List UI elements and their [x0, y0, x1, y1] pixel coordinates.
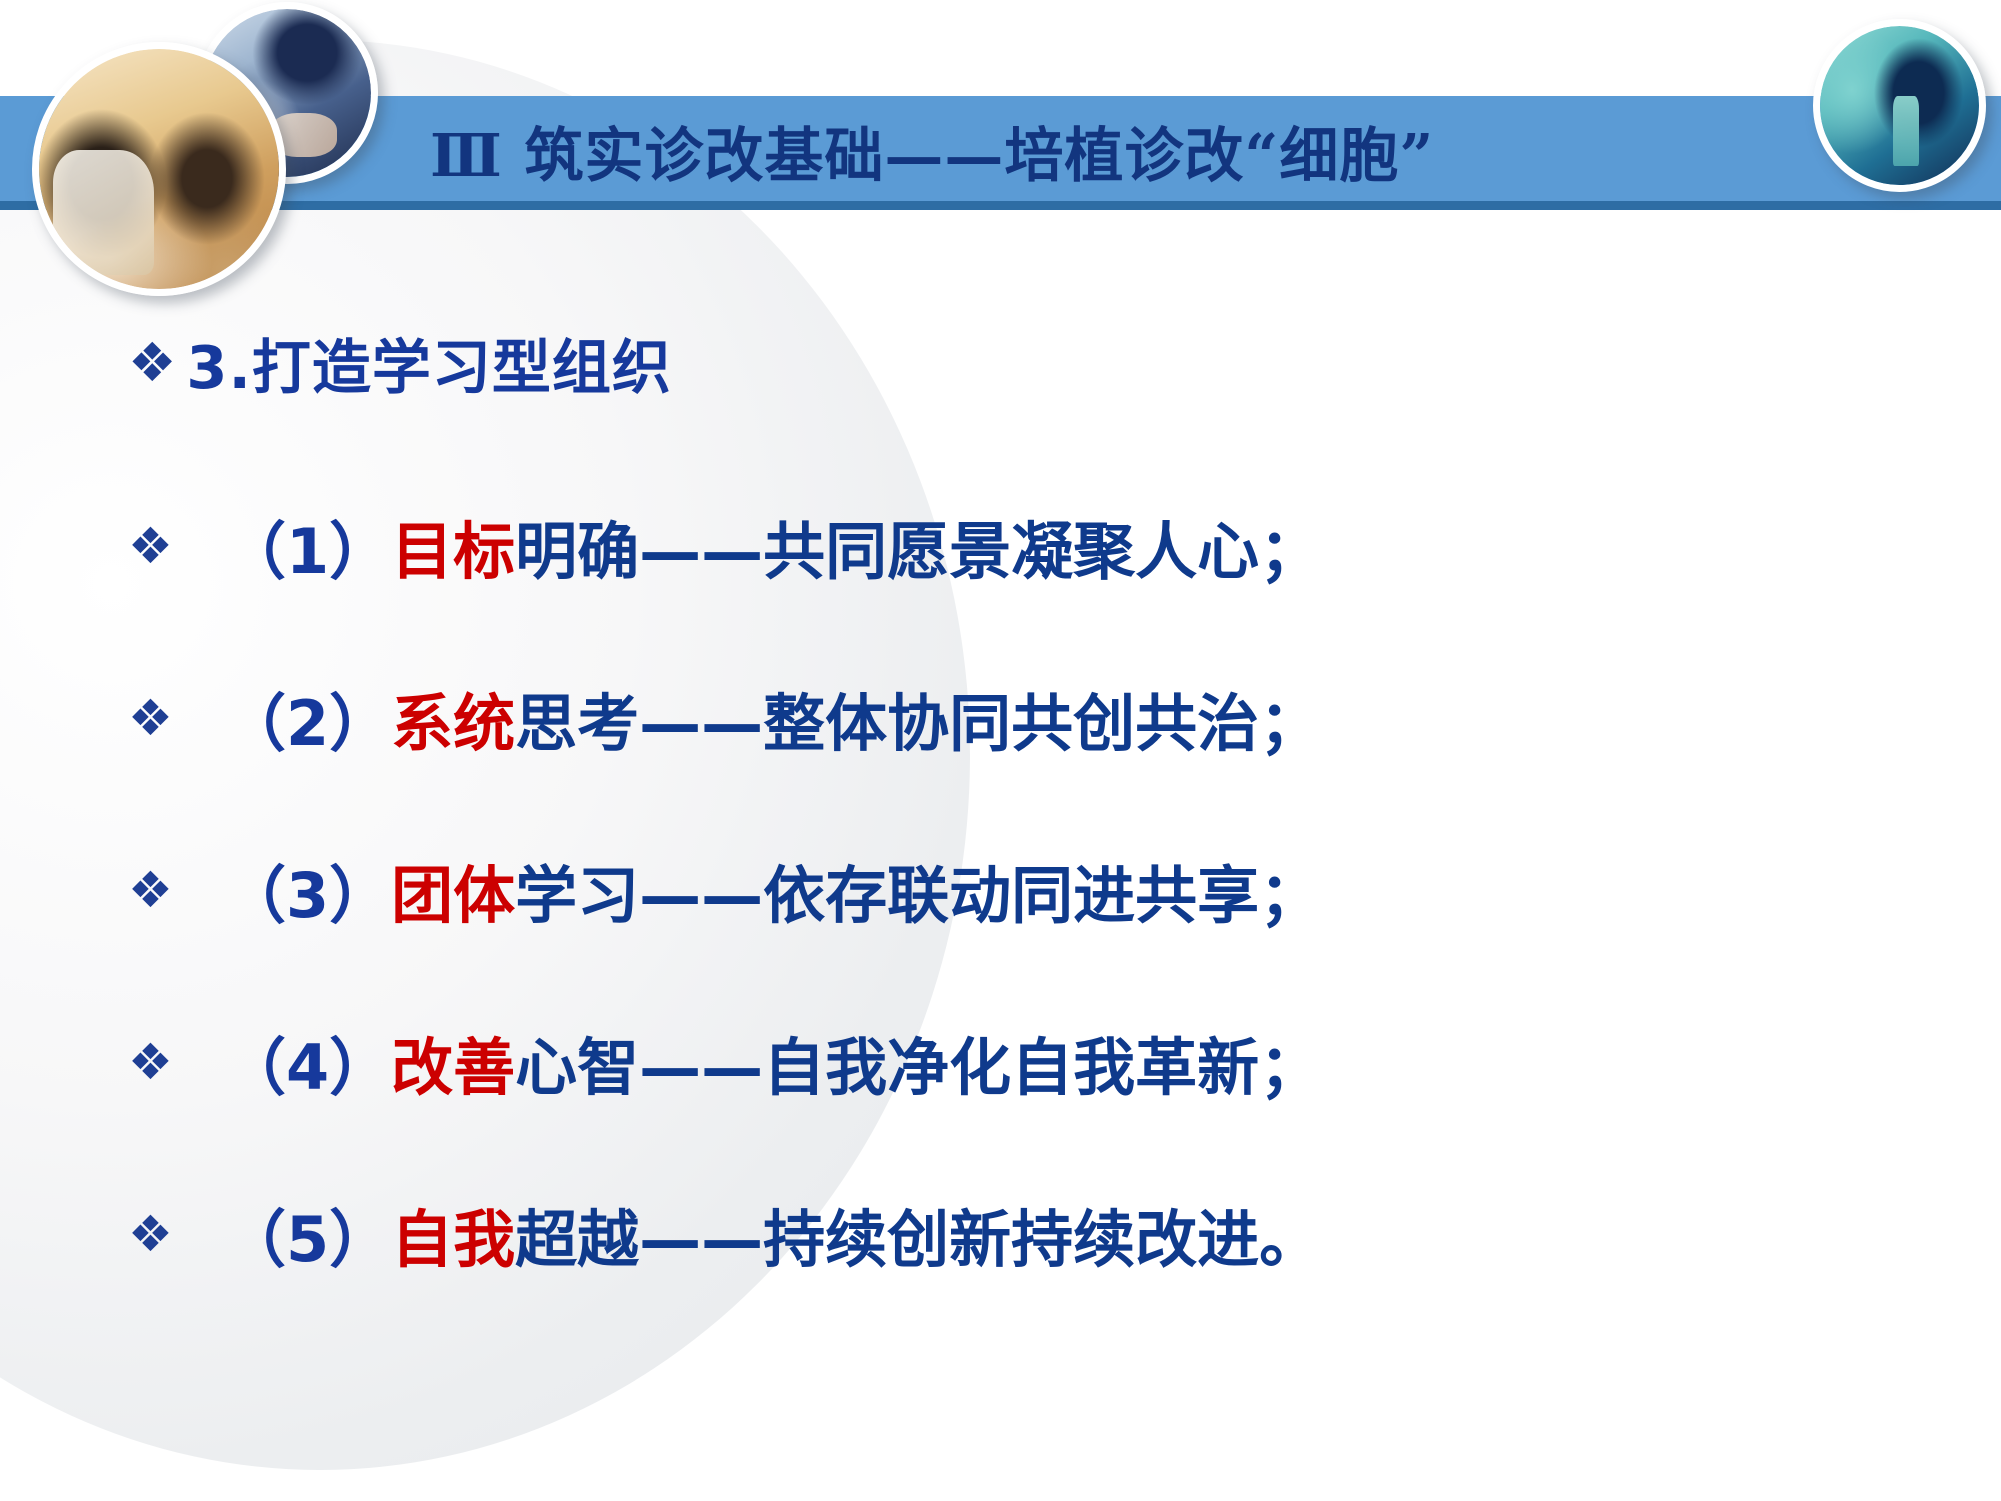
two-colleagues-at-laptop-photo-image	[39, 49, 279, 289]
list-item-emphasis: 目标	[391, 501, 515, 591]
list-item-emphasis: 自我	[391, 1189, 515, 1279]
slide-body: ❖ 3.打造学习型组织 ❖ （1）目标明确——共同愿景凝聚人心； ❖ （2）系统…	[0, 210, 2001, 1501]
list-item: ❖ （5）自我超越——持续创新持续改进。	[128, 1148, 1878, 1320]
list-item-text: （5）自我超越——持续创新持续改进。	[224, 1189, 1321, 1279]
bullet-list: ❖ （1）目标明确——共同愿景凝聚人心； ❖ （2）系统思考——整体协同共创共治…	[128, 460, 1878, 1320]
list-item-rest: 明确——共同愿景凝聚人心；	[515, 501, 1321, 591]
diamond-bullet-icon: ❖	[128, 336, 176, 390]
diamond-bullet-icon: ❖	[128, 865, 224, 915]
diamond-bullet-icon: ❖	[128, 521, 224, 571]
slide-title: Ⅲ 筑实诊改基础——培植诊改“细胞”	[430, 100, 1430, 200]
list-item-number: （5）	[224, 1189, 391, 1279]
list-item-text: （2）系统思考——整体协同共创共治；	[224, 673, 1321, 763]
list-item-rest: 思考——整体协同共创共治；	[515, 673, 1321, 763]
subheading-label: 3.打造学习型组织	[186, 320, 671, 405]
list-item: ❖ （3）团体学习——依存联动同进共享；	[128, 804, 1878, 976]
list-item-number: （4）	[224, 1017, 391, 1107]
list-item: ❖ （1）目标明确——共同愿景凝聚人心；	[128, 460, 1878, 632]
list-item: ❖ （4）改善心智——自我净化自我革新；	[128, 976, 1878, 1148]
list-item-number: （1）	[224, 501, 391, 591]
presenter-at-whiteboard-photo	[1813, 19, 1986, 192]
diamond-bullet-icon: ❖	[128, 1209, 224, 1259]
list-item: ❖ （2）系统思考——整体协同共创共治；	[128, 632, 1878, 804]
list-item-text: （1）目标明确——共同愿景凝聚人心；	[224, 501, 1321, 591]
list-item-number: （3）	[224, 845, 391, 935]
diamond-bullet-icon: ❖	[128, 693, 224, 743]
subheading: ❖ 3.打造学习型组织	[128, 320, 672, 405]
list-item-emphasis: 系统	[391, 673, 515, 763]
presenter-at-whiteboard-photo-image	[1820, 26, 1979, 185]
two-colleagues-at-laptop-photo	[32, 42, 286, 296]
list-item-number: （2）	[224, 673, 391, 763]
list-item-text: （3）团体学习——依存联动同进共享；	[224, 845, 1321, 935]
list-item-rest: 心智——自我净化自我革新；	[515, 1017, 1321, 1107]
list-item-rest: 超越——持续创新持续改进。	[515, 1189, 1321, 1279]
header-banner-underline	[0, 201, 2001, 210]
presentation-slide: Ⅲ 筑实诊改基础——培植诊改“细胞” ❖ 3.打造学习型组织 ❖ （1）目标明确…	[0, 0, 2001, 1501]
list-item-text: （4）改善心智——自我净化自我革新；	[224, 1017, 1321, 1107]
list-item-emphasis: 改善	[391, 1017, 515, 1107]
list-item-emphasis: 团体	[391, 845, 515, 935]
list-item-rest: 学习——依存联动同进共享；	[515, 845, 1321, 935]
diamond-bullet-icon: ❖	[128, 1037, 224, 1087]
